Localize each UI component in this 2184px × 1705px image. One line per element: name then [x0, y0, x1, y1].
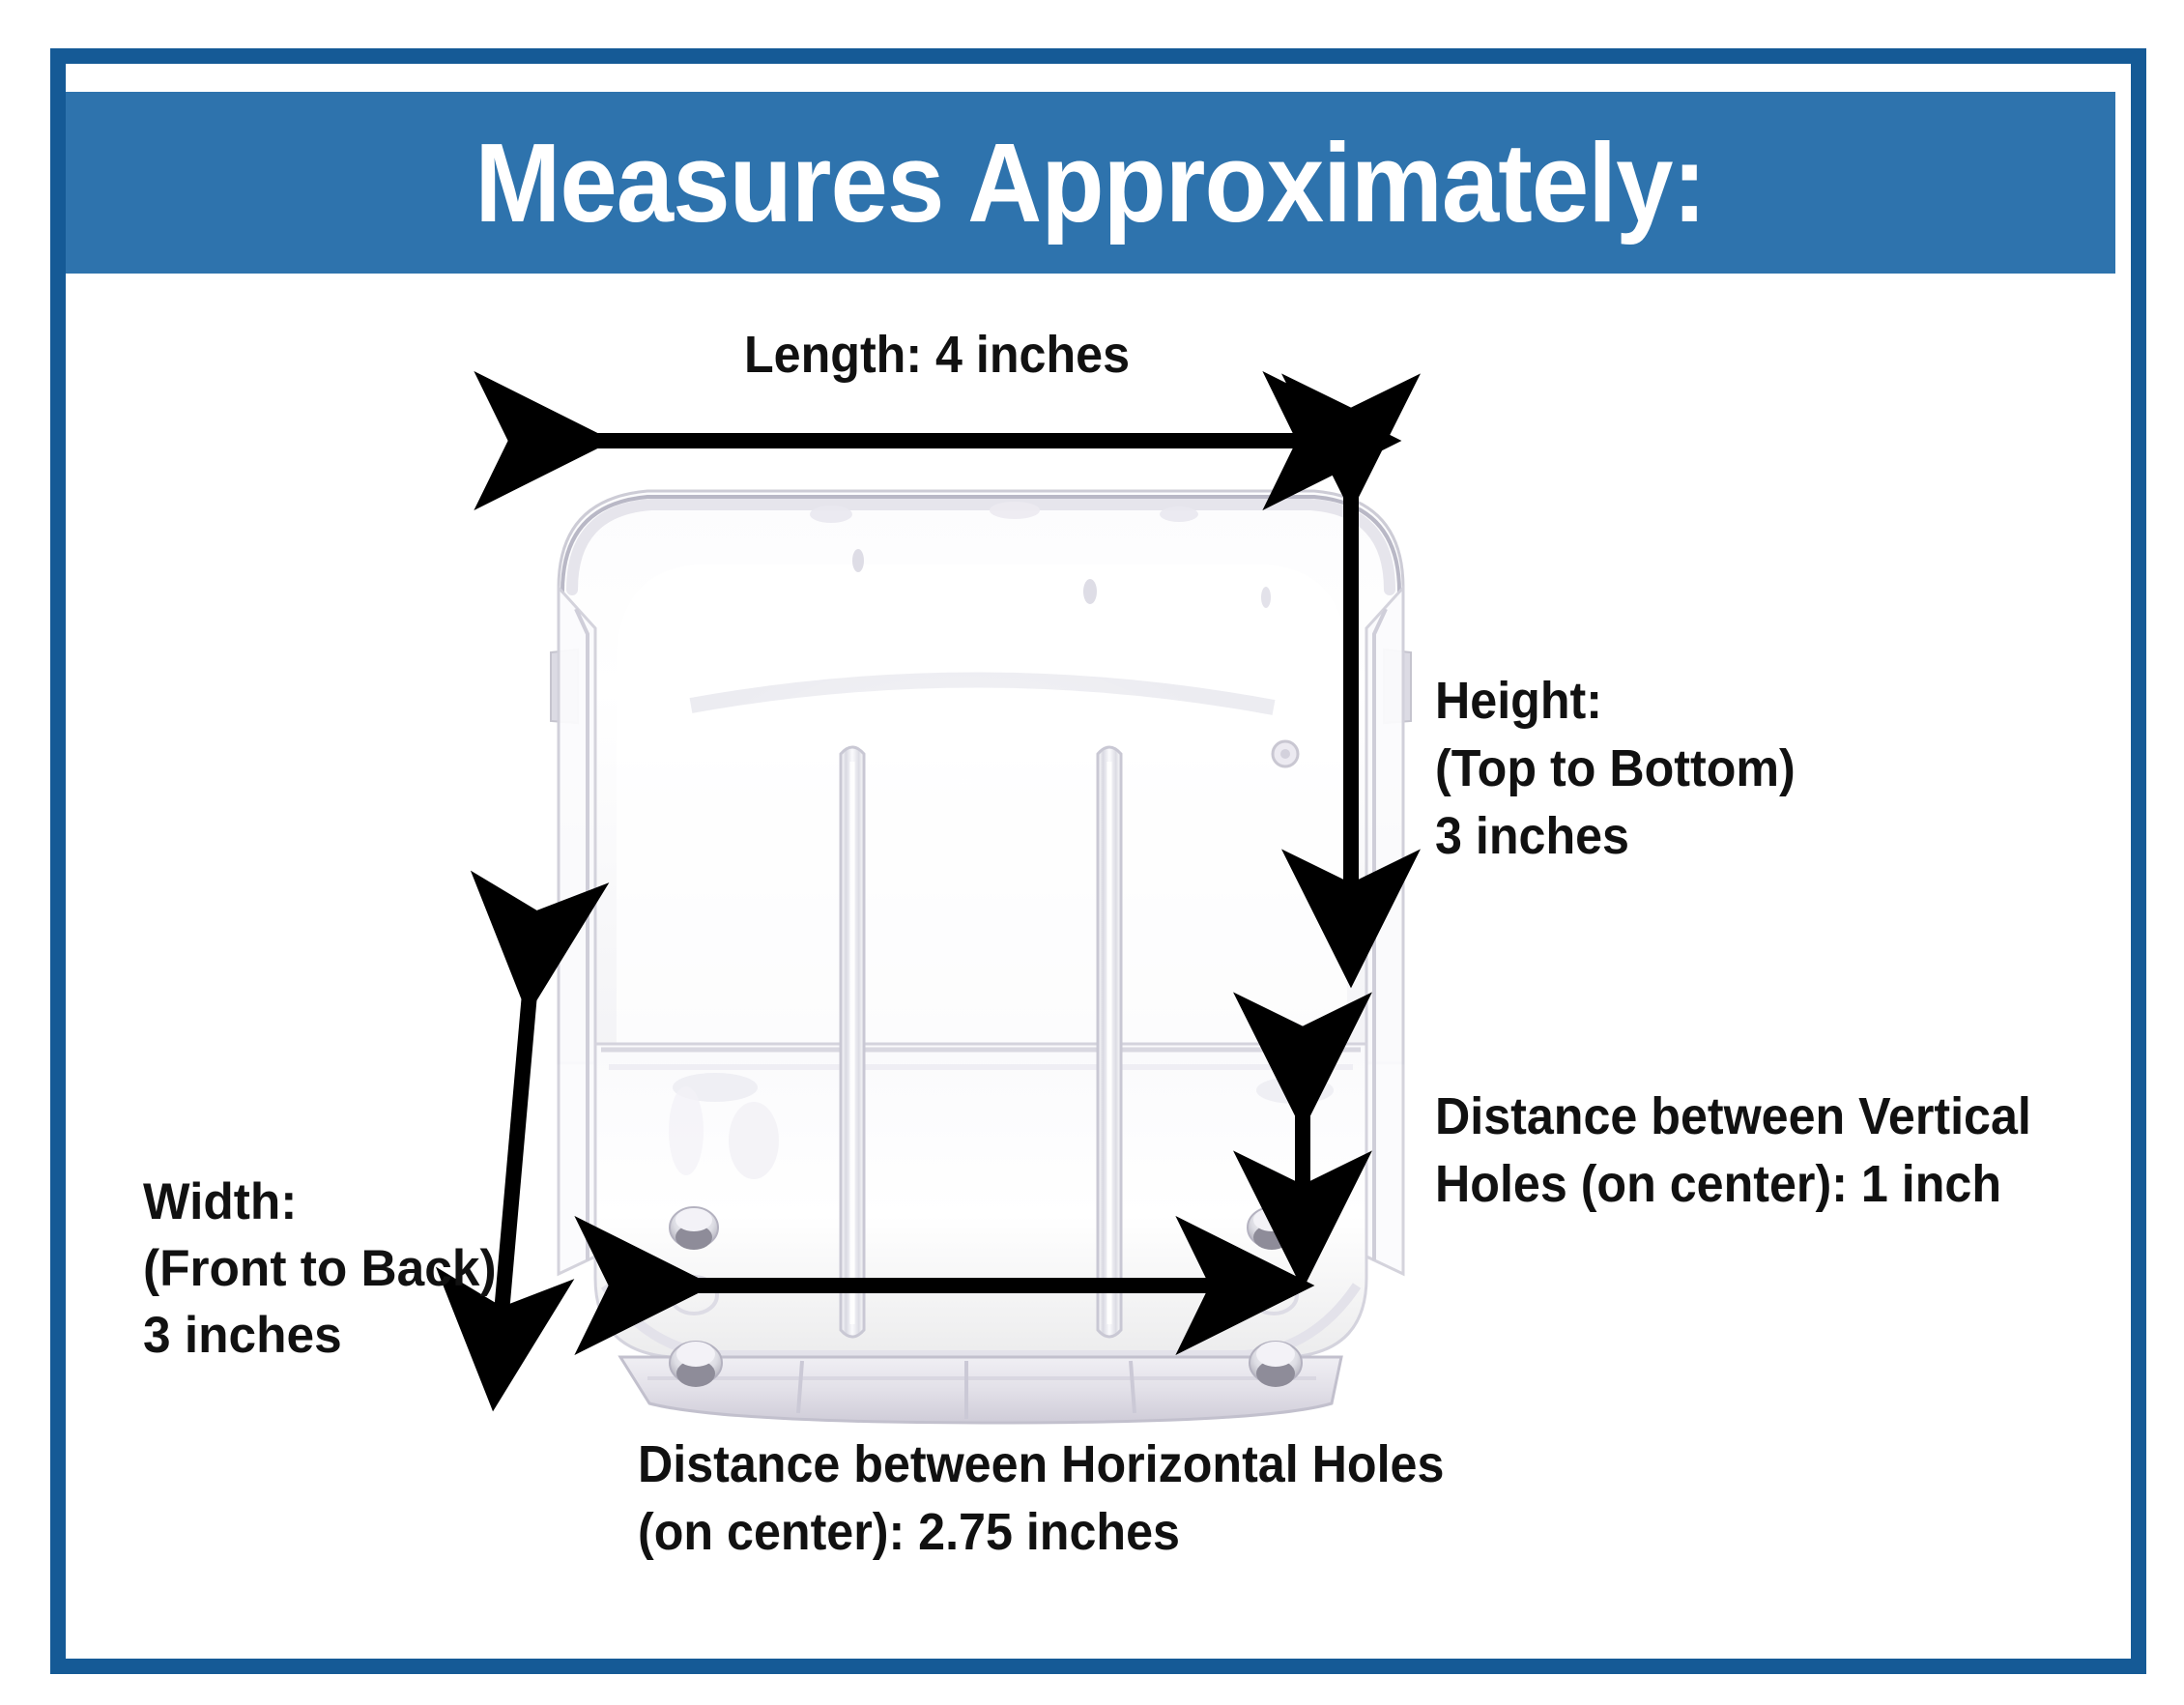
horizontal-holes-label: Distance between Horizontal Holes (on ce…	[638, 1430, 1444, 1566]
measurements-infographic: Measures Approximately:	[0, 0, 2184, 1705]
width-label: Width: (Front to Back) 3 inches	[143, 1170, 497, 1370]
divider-right	[1098, 747, 1121, 1337]
tray-base	[595, 1044, 1366, 1357]
page-title: Measures Approximately:	[475, 127, 1707, 239]
product-photo	[512, 464, 1450, 1430]
length-label: Length: 4 inches	[744, 321, 1130, 389]
title-bar: Measures Approximately:	[66, 92, 2115, 274]
divider-left	[841, 747, 864, 1337]
vertical-holes-label: Distance between Vertical Holes (on cent…	[1435, 1083, 2031, 1218]
height-label: Height: (Top to Bottom) 3 inches	[1435, 667, 1796, 871]
bottom-foot	[620, 1357, 1341, 1423]
back-panel	[551, 491, 1411, 1063]
